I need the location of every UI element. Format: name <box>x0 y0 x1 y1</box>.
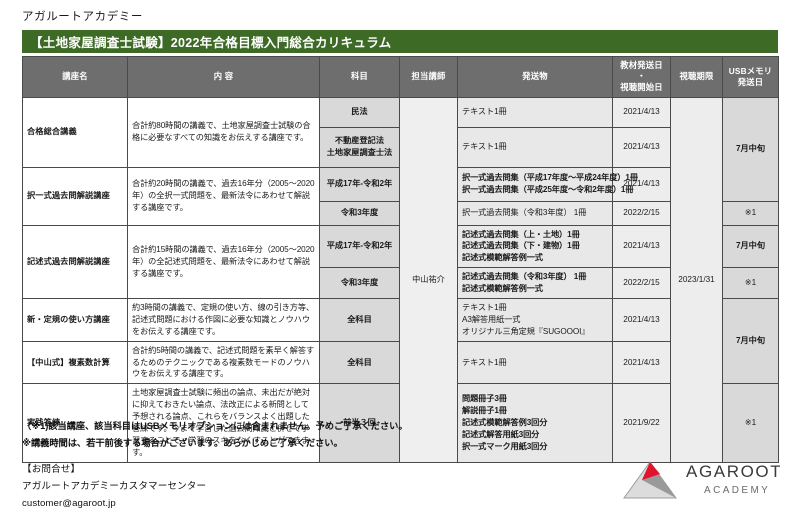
shipment-line: オリジナル三角定規『SUGOOOI』 <box>462 326 608 338</box>
shipment-line: 問題冊子3冊 <box>462 393 608 405</box>
col-header-ship-date: 教材発送日 ・ 視聴開始日 <box>613 57 671 98</box>
cell-ship-date: 2022/2/15 <box>613 201 671 225</box>
cell-shipment: テキスト1冊 <box>458 97 613 127</box>
cell-usb-ship-date: 7月中旬 <box>723 225 779 268</box>
ship-date-line-2: ・ <box>637 71 646 81</box>
col-header-course: 講座名 <box>23 57 128 98</box>
subject-line: 令和3年度 <box>324 207 395 219</box>
ship-date-line-3: 視聴開始日 <box>620 82 663 92</box>
cell-usb-ship-date: 7月中旬 <box>723 97 779 201</box>
subject-line: 平成17年-令和2年 <box>324 178 395 190</box>
footnotes: （※1)該当講座、該当科目はUSBメモリオプションには含まれません。予めご了承く… <box>22 418 408 452</box>
shipment-line: 記述式過去問集（上・土地）1冊 <box>462 229 608 241</box>
contact-email: customer@agaroot.jp <box>22 496 206 513</box>
col-header-deadline: 視聴期限 <box>671 57 723 98</box>
agaroot-logo: AGAROOT ACADEMY <box>620 458 780 506</box>
shipment-line: 記述式模範解答例3回分 <box>462 417 608 429</box>
col-header-subject: 科目 <box>320 57 400 98</box>
cell-subject: 民法 <box>320 97 400 127</box>
contact-org: アガルートアカデミーカスタマーセンター <box>22 479 206 496</box>
shipment-line: テキスト1冊 <box>462 106 608 118</box>
cell-viewing-deadline: 2023/1/31 <box>671 97 723 462</box>
cell-course-name: 【中山式】複素数計算 <box>23 341 128 384</box>
cell-ship-date: 2021/4/13 <box>613 225 671 268</box>
subject-line: 平成17年-令和2年 <box>324 240 395 252</box>
cell-course-name: 合格総合講義 <box>23 97 128 167</box>
cell-shipment: テキスト1冊A3解答用紙一式オリジナル三角定規『SUGOOOI』 <box>458 299 613 342</box>
shipment-line: 択一式マーク用紙3回分 <box>462 441 608 453</box>
cell-shipment: テキスト1冊 <box>458 341 613 384</box>
shipment-line: 記述式過去問集（下・建物）1冊 <box>462 240 608 252</box>
cell-course-name: 択一式過去問解説講座 <box>23 167 128 225</box>
shipment-line: 択一式過去問集（平成17年度～平成24年度）1冊 <box>462 172 608 184</box>
document-page: アガルートアカデミー 【土地家屋調査士試験】2022年合格目標入門総合カリキュラ… <box>0 0 800 524</box>
cell-subject: 令和3年度 <box>320 201 400 225</box>
curriculum-table: 講座名 内 容 科目 担当講師 発送物 教材発送日 ・ 視聴開始日 視聴期限 U… <box>22 56 779 463</box>
shipment-line: テキスト1冊 <box>462 357 608 369</box>
subject-line: 民法 <box>324 106 395 118</box>
cell-ship-date: 2021/4/13 <box>613 299 671 342</box>
cell-course-name: 記述式過去問解説講座 <box>23 225 128 298</box>
subject-line: 不動産登記法 <box>324 135 395 147</box>
cell-subject: 平成17年-令和2年 <box>320 167 400 201</box>
contact-heading: 【お問合せ】 <box>22 462 206 479</box>
cell-instructor: 中山祐介 <box>400 97 458 462</box>
usb-line-2: 発送日 <box>738 77 764 87</box>
cell-usb-ship-date: ※1 <box>723 384 779 462</box>
shipment-line: 択一式過去問集（令和3年度） 1冊 <box>462 207 608 219</box>
col-header-shipment: 発送物 <box>458 57 613 98</box>
cell-shipment: 記述式過去問集（上・土地）1冊記述式過去問集（下・建物）1冊記述式模範解答例一式 <box>458 225 613 268</box>
cell-usb-ship-date: 7月中旬 <box>723 299 779 384</box>
col-header-usb: USBメモリ 発送日 <box>723 57 779 98</box>
cell-ship-date: 2021/4/13 <box>613 341 671 384</box>
cell-subject: 平成17年-令和2年 <box>320 225 400 268</box>
cell-course-content: 合計約80時間の講義で、土地家屋調査士試験の合格に必要なすべての知識をお伝えする… <box>128 97 320 167</box>
subject-line: 土地家屋調査士法 <box>324 147 395 159</box>
cell-ship-date: 2021/9/22 <box>613 384 671 462</box>
cell-shipment: テキスト1冊 <box>458 127 613 167</box>
cell-usb-ship-date: ※1 <box>723 268 779 299</box>
cell-shipment: 択一式過去問集（平成17年度～平成24年度）1冊択一式過去問集（平成25年度～令… <box>458 167 613 201</box>
table-body: 合格総合講義合計約80時間の講義で、土地家屋調査士試験の合格に必要なすべての知識… <box>23 97 779 462</box>
cell-course-content: 合計約15時間の講義で、過去16年分（2005～2020年）の全記述式問題を、最… <box>128 225 320 298</box>
shipment-line: 択一式過去問集（平成25年度～令和2年度）1冊 <box>462 184 608 196</box>
usb-line-1: USBメモリ <box>729 66 773 76</box>
logo-wordmark: AGAROOT <box>686 462 780 481</box>
cell-shipment: 択一式過去問集（令和3年度） 1冊 <box>458 201 613 225</box>
logo-subtitle: ACADEMY <box>704 485 770 496</box>
brand-name: アガルートアカデミー <box>22 8 143 24</box>
shipment-line: 記述式解答用紙3回分 <box>462 429 608 441</box>
shipment-line: 記述式模範解答例一式 <box>462 283 608 295</box>
cell-shipment: 記述式過去問集（令和3年度） 1冊記述式模範解答例一式 <box>458 268 613 299</box>
shipment-line: テキスト1冊 <box>462 141 608 153</box>
shipment-line: A3解答用紙一式 <box>462 314 608 326</box>
shipment-line: 記述式過去問集（令和3年度） 1冊 <box>462 271 608 283</box>
footnote-1: （※1)該当講座、該当科目はUSBメモリオプションには含まれません。予めご了承く… <box>22 418 408 435</box>
cell-subject: 令和3年度 <box>320 268 400 299</box>
subject-line: 令和3年度 <box>324 277 395 289</box>
cell-usb-ship-date: ※1 <box>723 201 779 225</box>
cell-subject: 不動産登記法土地家屋調査士法 <box>320 127 400 167</box>
cell-ship-date: 2021/4/13 <box>613 127 671 167</box>
cell-subject: 全科目 <box>320 299 400 342</box>
ship-date-line-1: 教材発送日 <box>620 60 663 70</box>
contact-block: 【お問合せ】 アガルートアカデミーカスタマーセンター customer@agar… <box>22 462 206 512</box>
cell-course-content: 約3時間の講義で、定規の使い方、線の引き方等、記述式問題における作図に必要な知識… <box>128 299 320 342</box>
cell-ship-date: 2022/2/15 <box>613 268 671 299</box>
subject-line: 全科目 <box>324 357 395 369</box>
cell-course-content: 合計約20時間の講義で、過去16年分（2005～2020年）の全択一式問題を、最… <box>128 167 320 225</box>
col-header-content: 内 容 <box>128 57 320 98</box>
footnote-2: ※講義時間は、若干前後する場合がございます。あらかじめご了承ください。 <box>22 435 408 452</box>
cell-shipment: 問題冊子3冊解説冊子1冊記述式模範解答例3回分記述式解答用紙3回分択一式マーク用… <box>458 384 613 462</box>
subject-line: 全科目 <box>324 314 395 326</box>
cell-subject: 全科目 <box>320 341 400 384</box>
table-header-row: 講座名 内 容 科目 担当講師 発送物 教材発送日 ・ 視聴開始日 視聴期限 U… <box>23 57 779 98</box>
cell-course-content: 合計約5時間の講義で、記述式問題を素早く解答するためのテクニックである複素数モー… <box>128 341 320 384</box>
shipment-line: 記述式模範解答例一式 <box>462 252 608 264</box>
col-header-instructor: 担当講師 <box>400 57 458 98</box>
cell-course-name: 新・定規の使い方講座 <box>23 299 128 342</box>
banner-title: 【土地家屋調査士試験】2022年合格目標入門総合カリキュラム <box>22 30 778 53</box>
shipment-line: 解説冊子1冊 <box>462 405 608 417</box>
table-row: 合格総合講義合計約80時間の講義で、土地家屋調査士試験の合格に必要なすべての知識… <box>23 97 779 127</box>
cell-ship-date: 2021/4/13 <box>613 97 671 127</box>
shipment-line: テキスト1冊 <box>462 302 608 314</box>
logo-svg: AGAROOT ACADEMY <box>620 458 780 506</box>
